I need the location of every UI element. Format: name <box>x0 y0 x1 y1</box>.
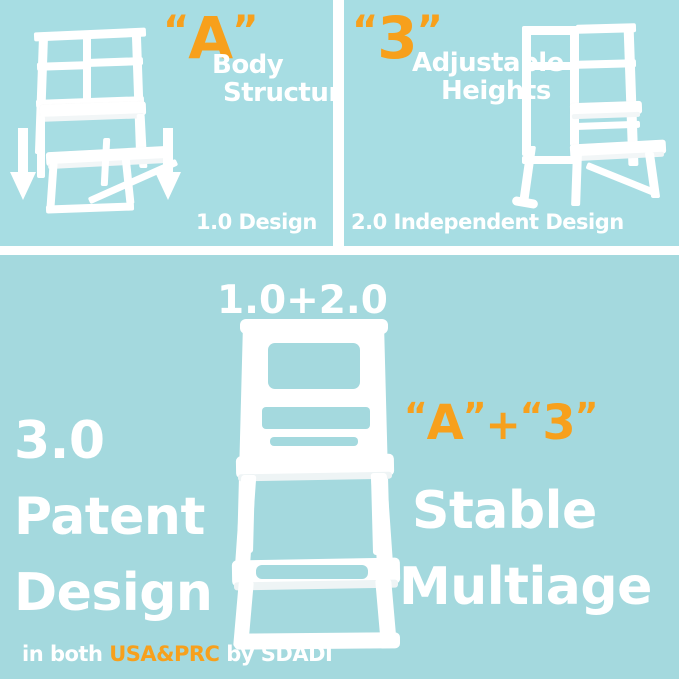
down-arrow-icon-left <box>10 128 36 200</box>
quote-close-glyph-2: ” <box>575 396 598 437</box>
panel-3-left-line1: 3.0 <box>14 414 105 469</box>
panel-2-headline-line2: Heights <box>441 78 551 105</box>
plus-sign-glyph: + <box>486 400 520 449</box>
panel-3-left-line2: Patent <box>14 490 205 545</box>
number-3-glyph: 3 <box>542 395 574 451</box>
quote-close-glyph: ” <box>232 8 257 54</box>
quote-close-glyph: ” <box>463 396 486 437</box>
quote-open-glyph: “ <box>163 8 188 54</box>
panel-3-title: 1.0+2.0 <box>217 281 388 322</box>
step-stool-2-0-illustration <box>498 16 668 221</box>
number-3-glyph: 3 <box>377 4 416 72</box>
footer-prefix: in both <box>22 642 109 666</box>
panel-2-caption: 2.0 Independent Design <box>351 211 624 233</box>
quote-open-glyph: “ <box>404 396 427 437</box>
panel-3-left-line3: Design <box>14 566 212 621</box>
footer-highlight: USA&PRC <box>109 642 219 666</box>
panel-1-headline-line1: Body <box>212 52 283 79</box>
letter-a-glyph: A <box>427 395 463 451</box>
panel-3-right-line1: Stable <box>412 484 597 539</box>
panel-1-caption: 1.0 Design <box>196 211 317 233</box>
panel-3-symbol-row: “A”+“3” <box>404 398 597 448</box>
quote-open-glyph-2: “ <box>520 396 543 437</box>
down-arrow-icon-right <box>155 128 181 200</box>
product-infographic: “A” Body Structure 1.0 Design <box>0 0 679 679</box>
panel-3-footer: in both USA&PRC by SDADI <box>22 643 332 665</box>
panel-2-headline-line1: Adjustable <box>412 50 564 77</box>
panel-1-headline-line2: Structure <box>223 80 358 107</box>
quote-open-glyph: “ <box>352 8 377 54</box>
footer-suffix: by SDADI <box>219 642 332 666</box>
panel-3-right-line2: Multiage <box>399 560 652 615</box>
step-stool-3-0-illustration <box>222 313 422 665</box>
